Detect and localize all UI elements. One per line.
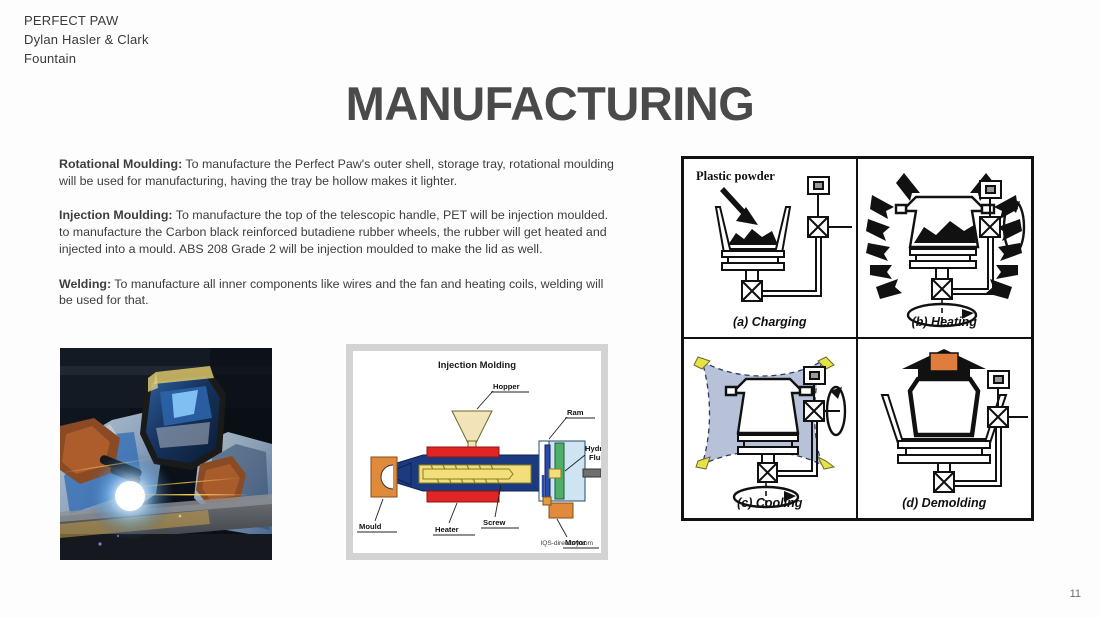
body-copy: Rotational Moulding: To manufacture the … [59,156,614,309]
page-title: MANUFACTURING [0,76,1100,131]
label-hydraulic-2: Fluid [589,453,601,462]
label-hydraulic-1: Hydraulic [585,444,601,453]
paragraph-welding: Welding: To manufacture all inner compon… [59,276,614,309]
injection-molding-figure: Injection Molding [346,344,608,560]
rm-caption-cooling: (c) Cooling [684,496,856,510]
paragraph-text: To manufacture all inner components like… [59,277,603,308]
rm-caption-demolding: (d) Demolding [858,496,1032,510]
rm-caption-heating: (b) Heating [858,315,1032,329]
rm-panel-demolding: (d) Demolding [858,339,1032,519]
heating-diagram [858,159,1031,339]
rm-panel-heating: (b) Heating [858,159,1032,339]
page-number: 11 [1070,588,1081,600]
injection-figure-credit: IQS-directory.com [540,540,593,547]
rm-caption-charging: (a) Charging [684,315,856,329]
rotational-moulding-figure: Plastic powder [681,156,1034,521]
injection-molding-diagram: Hopper Ram Hydraulic Fluid Mould Heater … [353,351,601,553]
welding-photo [60,348,272,560]
rm-panel-charging: Plastic powder [684,159,858,339]
label-mould: Mould [359,522,382,531]
charging-diagram [684,159,857,339]
paragraph-rotational-moulding: Rotational Moulding: To manufacture the … [59,156,614,189]
label-screw: Screw [483,518,505,527]
project-name: PERFECT PAW [24,12,324,31]
paragraph-injection-moulding: Injection Moulding: To manufacture the t… [59,207,614,257]
label-heater: Heater [435,525,459,534]
slide-header: PERFECT PAW Dylan Hasler & Clark Fountai… [24,12,324,69]
author-names: Dylan Hasler & Clark Fountain [24,31,174,69]
slide-canvas: PERFECT PAW Dylan Hasler & Clark Fountai… [0,0,1100,618]
paragraph-heading: Rotational Moulding: [59,157,182,171]
paragraph-heading: Welding: [59,277,111,291]
welding-photo-art [60,348,272,560]
label-hopper: Hopper [493,382,520,391]
label-ram: Ram [567,408,584,417]
paragraph-heading: Injection Moulding: [59,208,173,222]
cooling-diagram [684,339,857,519]
demolding-diagram [858,339,1031,519]
rm-panel-cooling: (c) Cooling [684,339,858,519]
